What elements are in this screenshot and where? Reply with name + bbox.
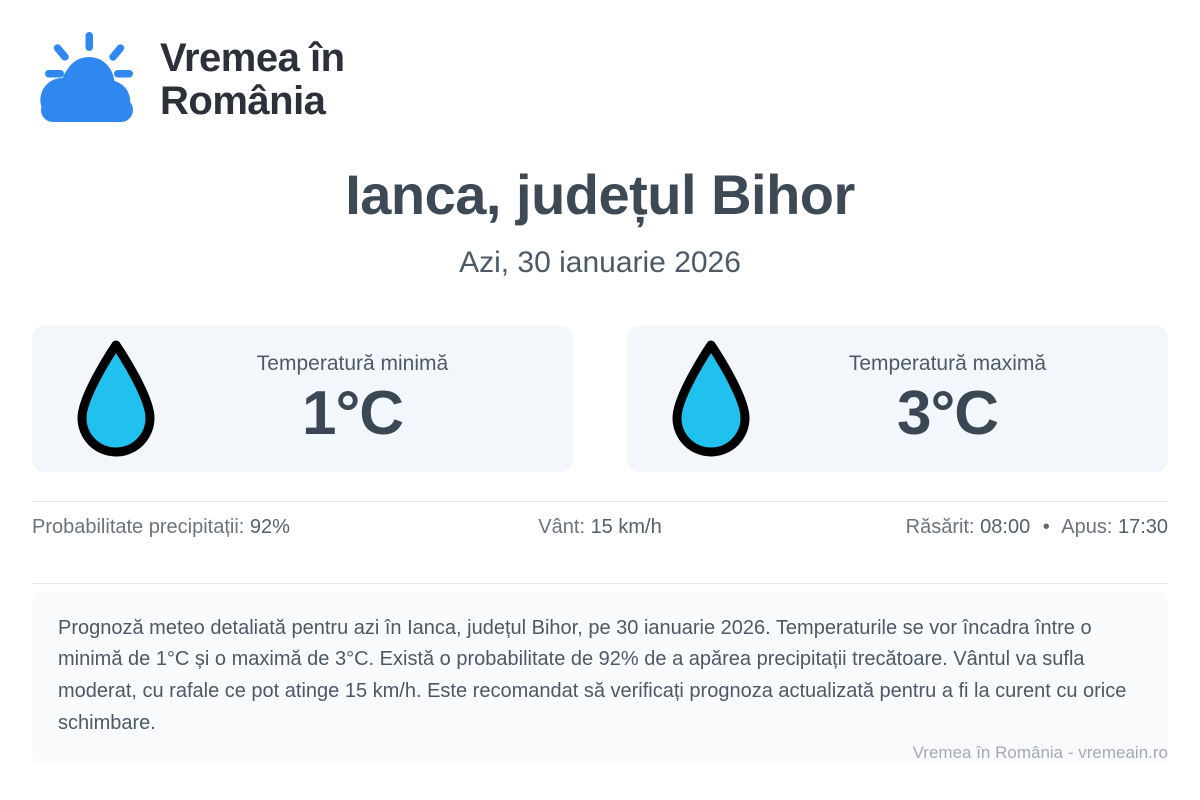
stats-row: Probabilitate precipitații: 92% Vânt: 15… [32, 502, 1168, 554]
stat-precipitation: Probabilitate precipitații: 92% [32, 516, 411, 539]
min-temperature-value: 1°C [184, 381, 521, 446]
card-min-body: Temperatură minimă 1°C [184, 351, 547, 446]
sunrise-label: Răsărit: [906, 516, 975, 538]
wind-value: 15 km/h [591, 516, 662, 538]
brand-name: Vremea în România [160, 37, 345, 123]
brand-header: Vremea în România [32, 0, 1168, 112]
water-drop-icon [74, 339, 158, 457]
precipitation-label: Probabilitate precipitații: [32, 516, 244, 538]
water-drop-icon [669, 339, 753, 457]
sun-times-separator: • [1036, 516, 1057, 538]
stat-wind: Vânt: 15 km/h [411, 516, 790, 539]
temperature-cards: Temperatură minimă 1°C Temperatură maxim… [32, 325, 1168, 472]
max-temperature-value: 3°C [779, 381, 1116, 446]
page-subtitle: Azi, 30 ianuarie 2026 [32, 245, 1168, 281]
page-title: Ianca, județul Bihor [32, 164, 1168, 227]
footer-attribution: Vremea în România - vremeain.ro [913, 743, 1168, 763]
card-min-temperature: Temperatură minimă 1°C [32, 325, 573, 472]
min-temperature-label: Temperatură minimă [184, 351, 521, 377]
wind-label: Vânt: [538, 516, 585, 538]
sun-cloud-icon [32, 30, 142, 130]
precipitation-value: 92% [250, 516, 290, 538]
sunrise-value: 08:00 [980, 516, 1030, 538]
weather-page: Vremea în România Ianca, județul Bihor A… [0, 0, 1200, 800]
max-temperature-label: Temperatură maximă [779, 351, 1116, 377]
sunset-value: 17:30 [1118, 516, 1168, 538]
sunset-label: Apus: [1061, 516, 1112, 538]
divider-bottom [32, 583, 1168, 584]
title-block: Ianca, județul Bihor Azi, 30 ianuarie 20… [32, 164, 1168, 281]
card-max-body: Temperatură maximă 3°C [779, 351, 1142, 446]
stat-sun-times: Răsărit: 08:00 • Apus: 17:30 [789, 516, 1168, 539]
forecast-description-box: Prognoză meteo detaliată pentru azi în I… [32, 591, 1168, 763]
forecast-description-text: Prognoză meteo detaliată pentru azi în I… [58, 613, 1142, 739]
card-max-temperature: Temperatură maximă 3°C [627, 325, 1168, 472]
